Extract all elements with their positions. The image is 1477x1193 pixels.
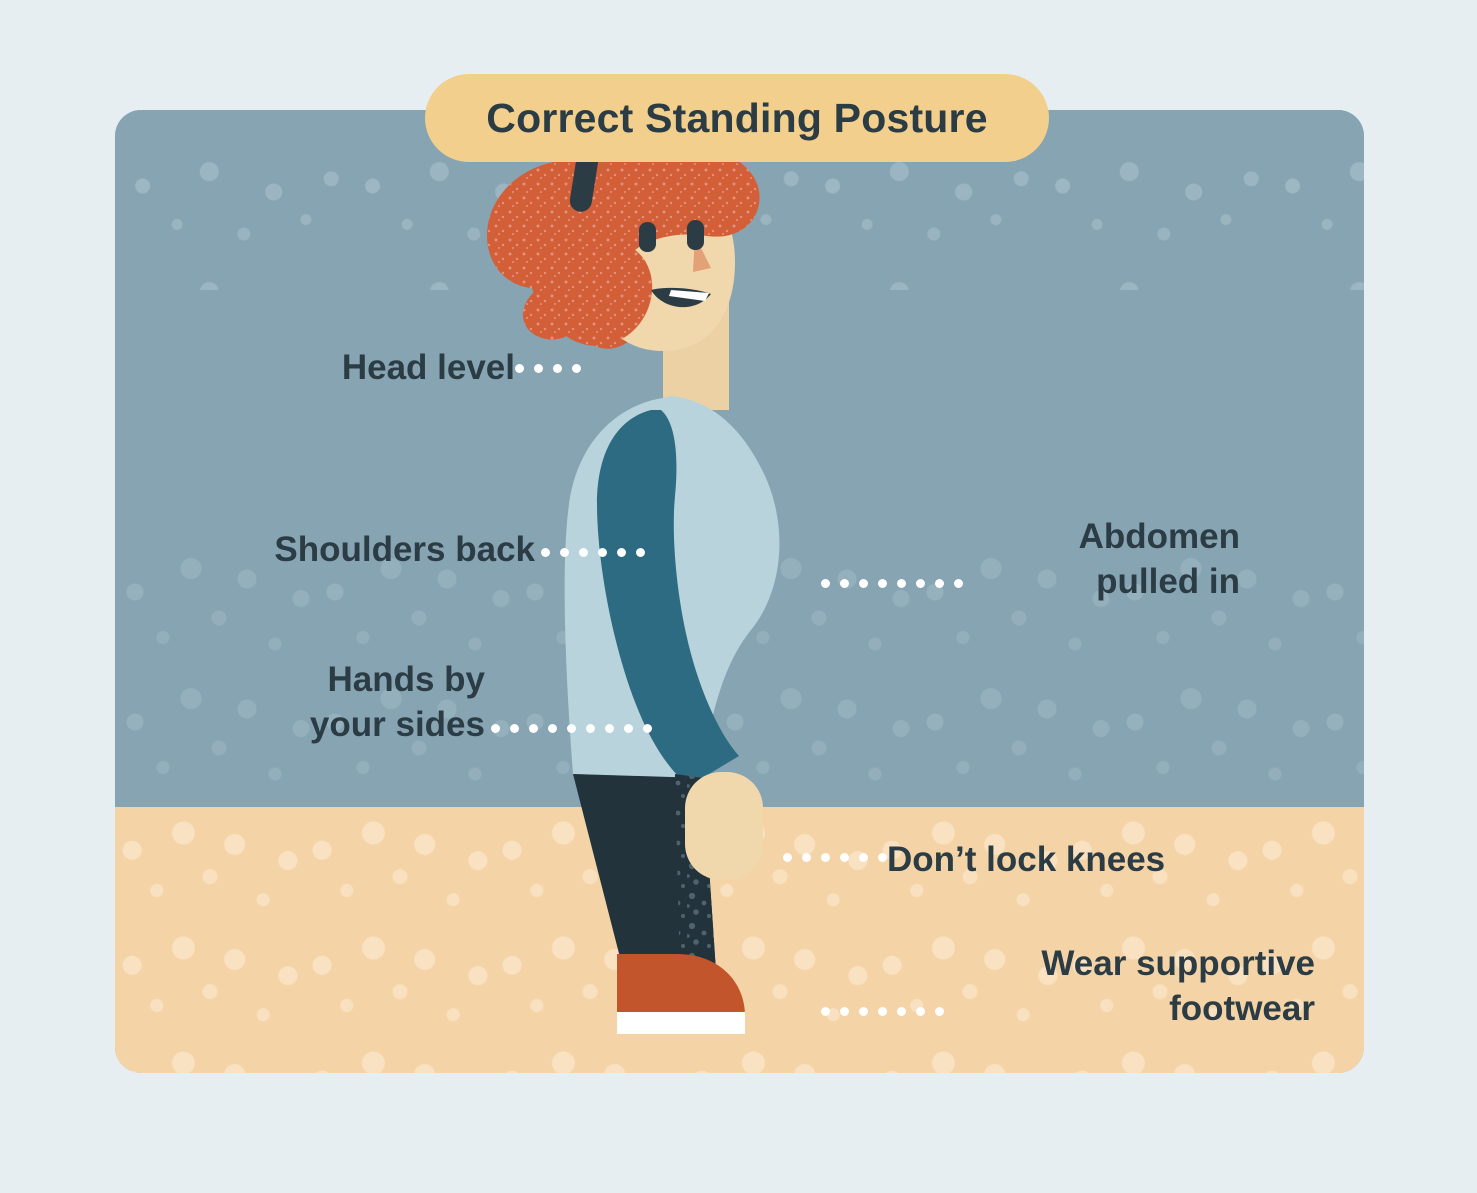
label-head-level: Head level [155,346,515,391]
leader-abdomen-pulled-in [821,578,963,588]
infographic-canvas: Head level Shoulders back Abdomen pulled… [0,0,1477,1193]
leader-shoulders-back [541,547,645,557]
title-pill: Correct Standing Posture [425,74,1049,162]
label-hands-by-your-sides: Hands by your sides [175,658,485,748]
leader-wear-supportive-footwear [821,1006,944,1016]
poster-card: Head level Shoulders back Abdomen pulled… [115,110,1364,1073]
leader-head-level [515,363,581,373]
label-abdomen-pulled-in: Abdomen pulled in [860,515,1240,605]
label-shoulders-back: Shoulders back [135,528,535,573]
leader-dont-lock-knees [783,852,887,862]
page-title: Correct Standing Posture [486,95,987,142]
label-wear-supportive-footwear: Wear supportive footwear [845,942,1315,1032]
label-dont-lock-knees: Don’t lock knees [887,838,1317,883]
leader-hands-by-your-sides [491,723,652,733]
